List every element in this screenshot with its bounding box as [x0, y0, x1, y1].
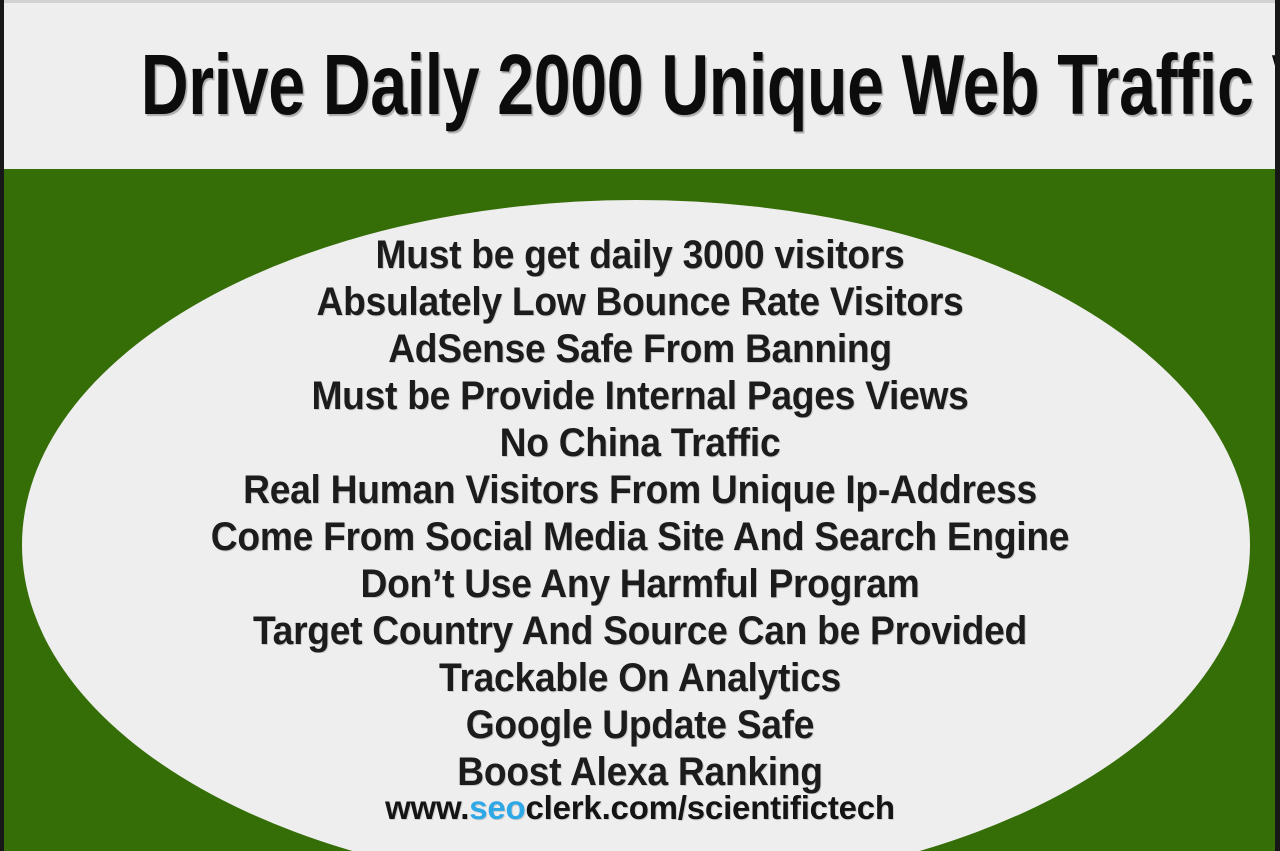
url-brand-accent: seo: [469, 789, 525, 826]
promo-poster: Drive Daily 2000 Unique Web Traffic Visi…: [0, 0, 1280, 851]
list-item: Don’t Use Any Harmful Program: [45, 561, 1235, 608]
list-item: Target Country And Source Can be Provide…: [45, 608, 1235, 655]
list-item: Trackable On Analytics: [45, 655, 1235, 702]
url-prefix: www.: [385, 789, 469, 826]
list-item: AdSense Safe From Banning: [45, 326, 1235, 373]
feature-list: Must be get daily 3000 visitors Absulate…: [0, 232, 1280, 796]
list-item: Absulately Low Bounce Rate Visitors: [45, 279, 1235, 326]
url-suffix: clerk.com/scientifictech: [526, 789, 895, 826]
list-item: No China Traffic: [45, 420, 1235, 467]
list-item: Must be Provide Internal Pages Views: [45, 373, 1235, 420]
list-item: Real Human Visitors From Unique Ip-Addre…: [45, 467, 1235, 514]
list-item: Must be get daily 3000 visitors: [45, 232, 1235, 279]
website-url[interactable]: www.seoclerk.com/scientifictech: [0, 790, 1280, 826]
list-item: Come From Social Media Site And Search E…: [45, 514, 1235, 561]
list-item: Google Update Safe: [45, 702, 1235, 749]
page-title: Drive Daily 2000 Unique Web Traffic Visi…: [141, 36, 1139, 136]
green-body: Must be get daily 3000 visitors Absulate…: [0, 172, 1280, 851]
header-band: Drive Daily 2000 Unique Web Traffic Visi…: [0, 0, 1280, 172]
